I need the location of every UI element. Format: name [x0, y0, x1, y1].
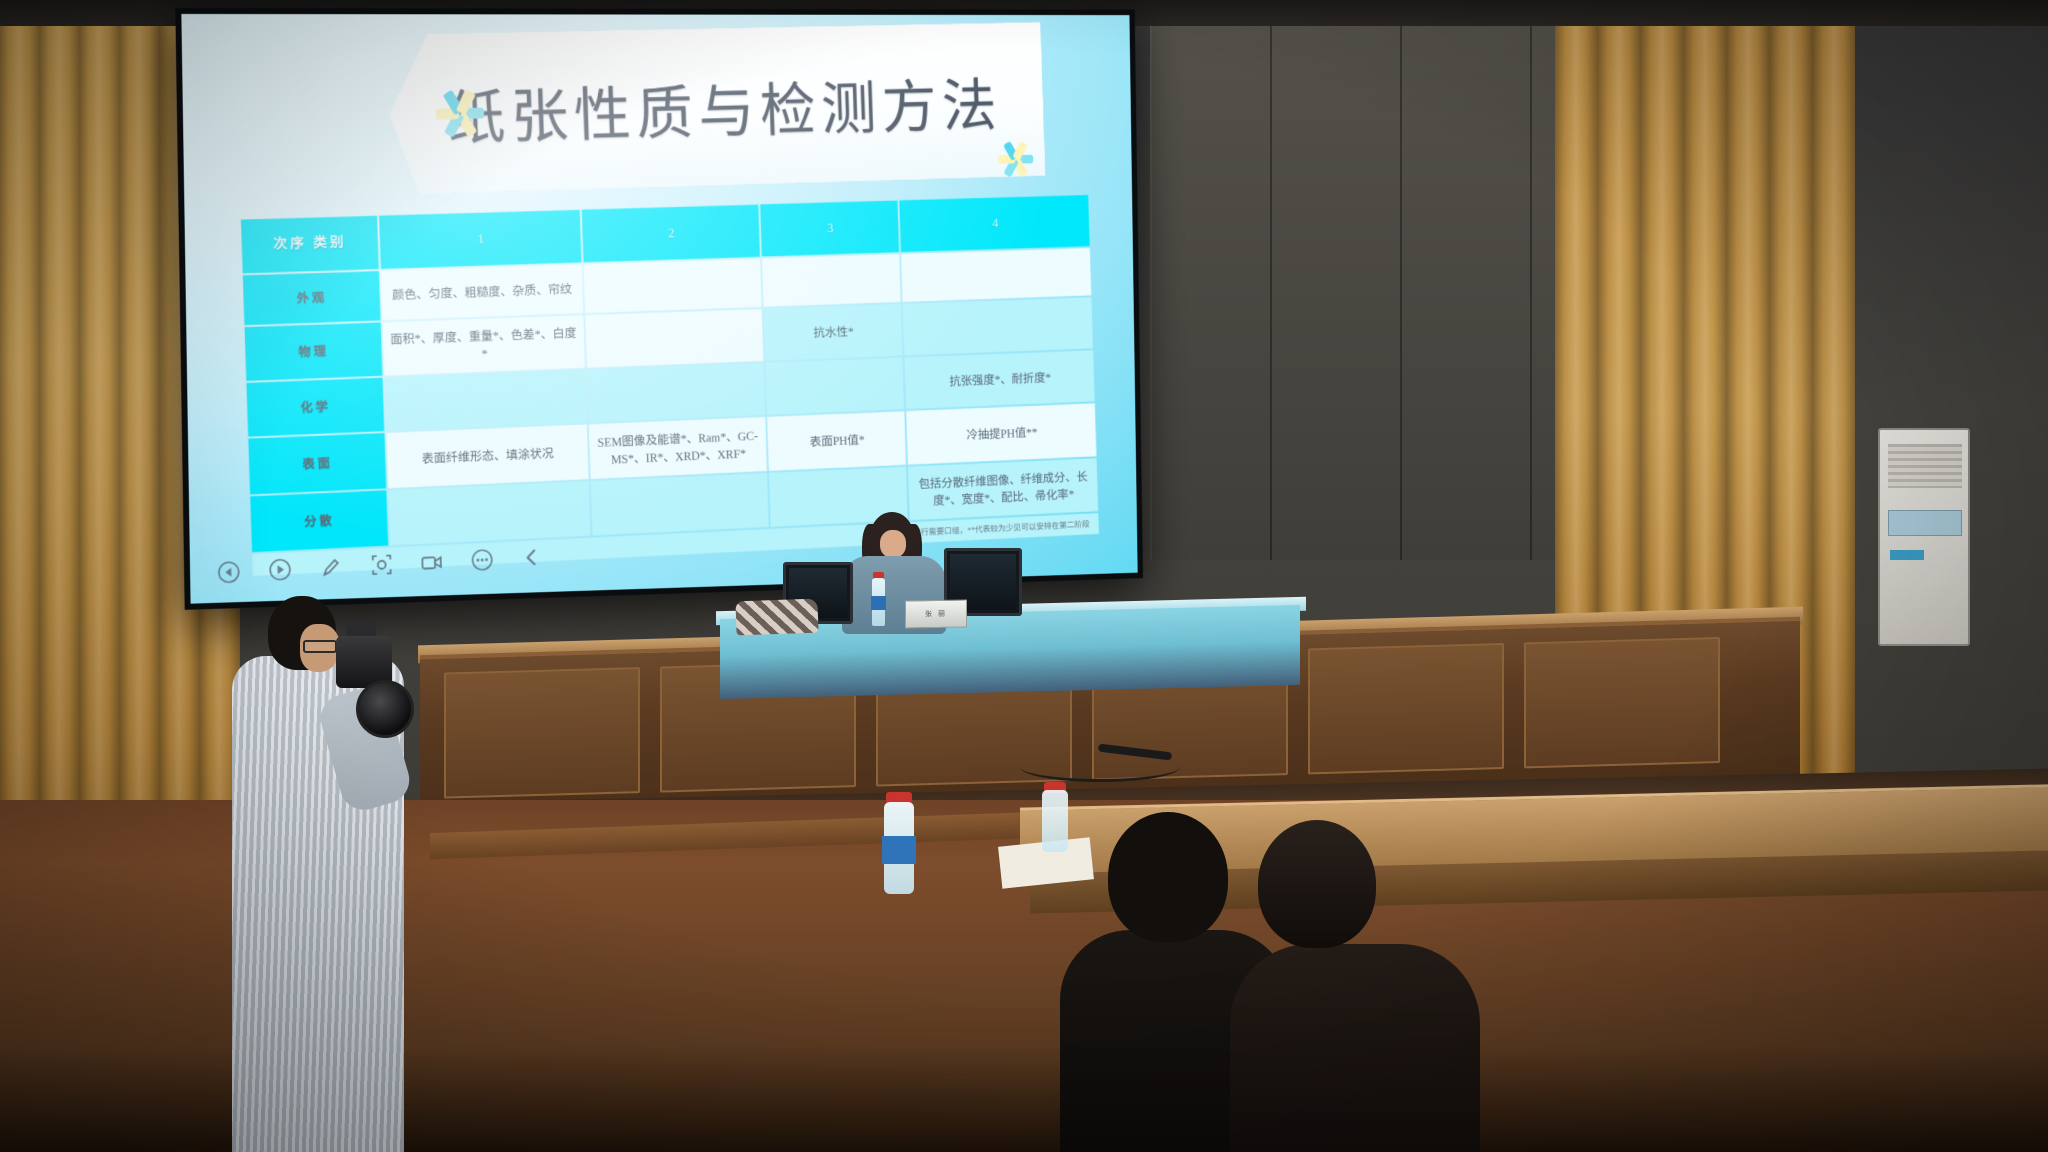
- snowflake-icon: [431, 84, 489, 142]
- cell-surface-3: 表面PH值*: [768, 411, 907, 471]
- bottle-label: [871, 596, 886, 610]
- screenshot-icon[interactable]: [367, 549, 397, 580]
- eyeglasses-icon: [303, 640, 337, 653]
- cell-appearance-3: [762, 254, 901, 307]
- ac-display-panel: [1888, 510, 1962, 536]
- ellipsis-icon[interactable]: [467, 544, 497, 575]
- column-header-1: 1: [379, 210, 581, 269]
- cell-appearance-4: [901, 248, 1091, 302]
- ac-brand-badge: [1890, 550, 1924, 560]
- column-header-3: 3: [761, 200, 900, 256]
- camera-lens: [356, 680, 414, 738]
- snowflake-icon-secondary: [994, 137, 1036, 181]
- video-camera-icon[interactable]: [417, 547, 447, 578]
- stage-panel: [1524, 637, 1720, 768]
- audience-head: [1108, 812, 1228, 942]
- lecture-hall-scene: 纸张性质与检测方法 次序 类别 1 2 3 4 外观: [0, 0, 2048, 1152]
- pencil-icon[interactable]: [316, 552, 346, 583]
- cell-dispersion-4: 包括分散纤维图像、纤维成分、长度*、宽度*、配比、帚化率*: [908, 458, 1098, 520]
- row-label-surface: 表面: [248, 433, 386, 494]
- cell-surface-2: SEM图像及能谱*、Ram*、GC-MS*、IR*、XRD*、XRF*: [588, 417, 767, 479]
- cell-chemical-1: [385, 370, 587, 431]
- audience-head: [1258, 820, 1376, 948]
- row-label-physical: 物理: [245, 322, 383, 381]
- cell-chemical-3: [766, 358, 905, 415]
- name-plate-text: 张 丽: [906, 600, 966, 629]
- cell-surface-1: 表面纤维形态、填涂状况: [386, 425, 588, 489]
- cell-dispersion-2: [590, 473, 769, 536]
- stage-panel: [1308, 643, 1504, 774]
- cell-physical-2: [585, 309, 764, 368]
- cell-chemical-2: [587, 363, 766, 423]
- row-label-dispersion: 分散: [250, 490, 388, 552]
- cell-chemical-4: 抗张强度*、耐折度*: [905, 350, 1095, 409]
- cell-physical-4: [903, 297, 1093, 355]
- column-header-4: 4: [900, 195, 1090, 252]
- slide-title: 纸张性质与检测方法: [446, 58, 1003, 156]
- table-corner-header: 次序 类别: [241, 216, 379, 274]
- share-icon[interactable]: [517, 542, 547, 573]
- column-header-2: 2: [581, 205, 760, 263]
- stage-panel: [444, 667, 640, 798]
- presenter-face: [880, 530, 906, 558]
- slide-title-plaque: 纸张性质与检测方法: [387, 22, 1046, 195]
- water-bottle-foreground-2: [1042, 790, 1068, 852]
- cell-physical-1: 面积*、厚度、重量*、色差*、白度*: [383, 315, 585, 375]
- row-label-chemical: 化学: [246, 378, 384, 437]
- bottle-label: [882, 836, 916, 864]
- name-plate: 张 丽: [905, 599, 967, 628]
- row-label-appearance: 外观: [243, 271, 381, 325]
- presentation-slide: 纸张性质与检测方法 次序 类别 1 2 3 4 外观: [181, 14, 1137, 604]
- projection-screen: 纸张性质与检测方法 次序 类别 1 2 3 4 外观: [175, 8, 1143, 610]
- air-conditioner-unit: [1878, 428, 1970, 646]
- cell-dispersion-1: [388, 481, 590, 545]
- cell-appearance-1: 颜色、匀度、粗糙度、杂质、帘纹: [381, 264, 583, 320]
- audience-shoulders: [1230, 944, 1480, 1152]
- ac-vent: [1888, 444, 1962, 488]
- play-back-icon[interactable]: [213, 557, 244, 588]
- paper-properties-table: 次序 类别 1 2 3 4 外观 颜色、匀度、粗糙度、杂质、帘纹: [239, 193, 1101, 578]
- play-icon[interactable]: [265, 554, 295, 585]
- cell-physical-3: 抗水性*: [764, 304, 903, 361]
- handbag: [735, 599, 818, 636]
- cell-appearance-2: [583, 259, 762, 314]
- cell-surface-4: 冷抽提PH值**: [907, 403, 1097, 464]
- floor-cable: [1020, 752, 1180, 782]
